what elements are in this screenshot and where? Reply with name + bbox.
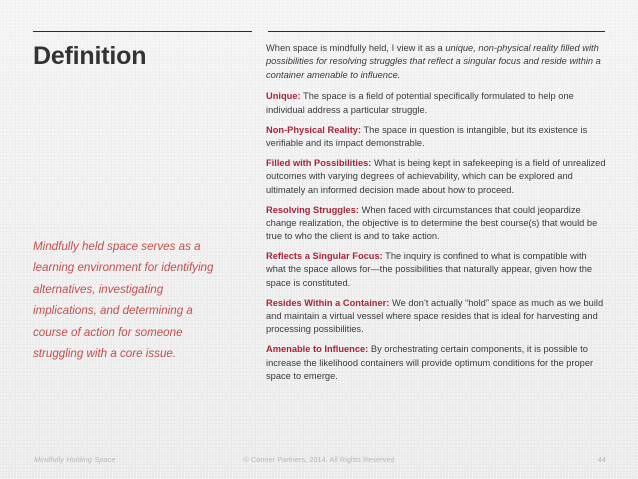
item-label: Non-Physical Reality: xyxy=(266,125,361,135)
header-rule-left xyxy=(33,31,252,32)
footer-copyright: © Conner Partners, 2014. All Rights Rese… xyxy=(0,455,638,464)
item-label: Unique: xyxy=(266,91,301,101)
definition-item: Resides Within a Container: We don’t act… xyxy=(266,297,606,337)
page-title: Definition xyxy=(33,43,146,71)
slide: Definition Mindfully held space serves a… xyxy=(0,0,638,479)
definition-item: Non-Physical Reality: The space in quest… xyxy=(266,124,606,150)
definition-item: Resolving Struggles: When faced with cir… xyxy=(266,204,606,244)
item-label: Resides Within a Container: xyxy=(266,298,389,308)
body-column: When space is mindfully held, I view it … xyxy=(266,42,606,383)
definition-item: Unique: The space is a field of potentia… xyxy=(266,90,606,116)
item-label: Amenable to Influence: xyxy=(266,344,368,354)
lede-plain: When space is mindfully held, I view it … xyxy=(266,43,445,53)
definition-item: Filled with Possibilities: What is being… xyxy=(266,157,606,197)
item-label: Resolving Struggles: xyxy=(266,205,359,215)
header-rule-right xyxy=(268,31,605,32)
definition-item: Amenable to Influence: By orchestrating … xyxy=(266,343,606,383)
item-label: Filled with Possibilities: xyxy=(266,158,371,168)
footer-page-number: 44 xyxy=(598,455,606,464)
definition-item: Reflects a Singular Focus: The inquiry i… xyxy=(266,250,606,290)
lede-paragraph: When space is mindfully held, I view it … xyxy=(266,42,606,82)
callout-text: Mindfully held space serves as a learnin… xyxy=(33,236,223,365)
item-text: The space is a field of potential specif… xyxy=(266,91,574,114)
item-label: Reflects a Singular Focus: xyxy=(266,251,383,261)
